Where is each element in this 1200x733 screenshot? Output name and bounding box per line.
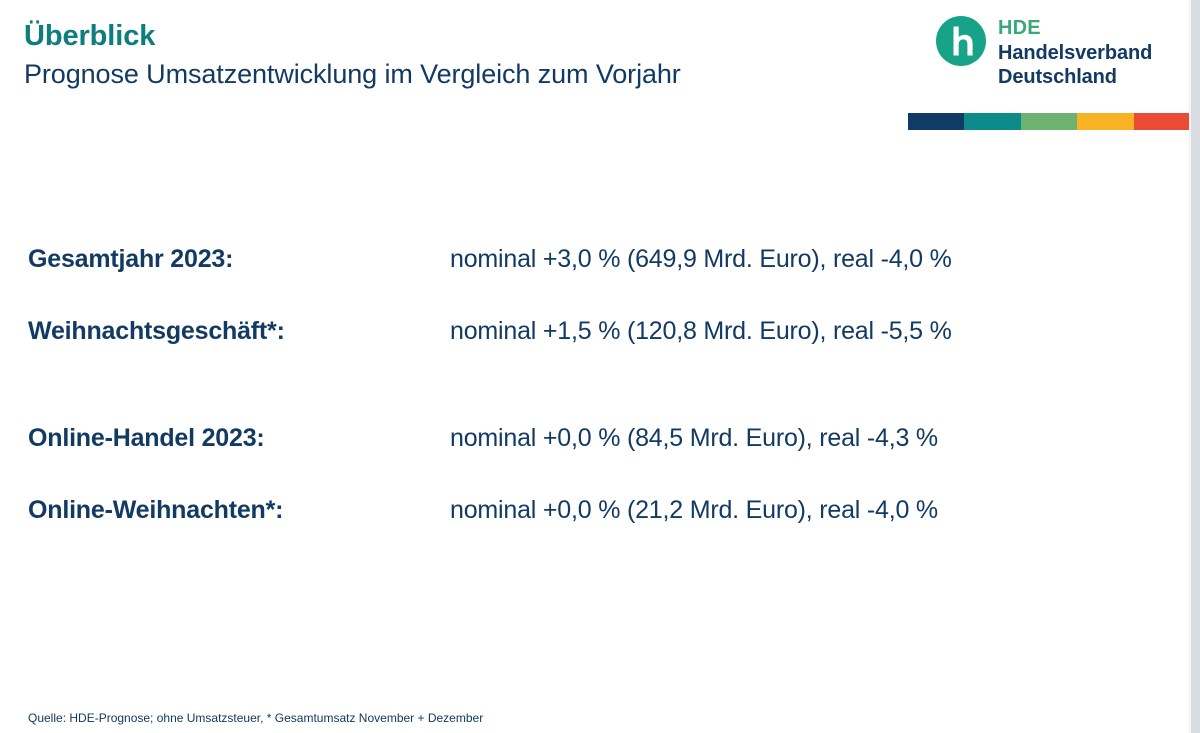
source-footnote: Quelle: HDE-Prognose; ohne Umsatzsteuer,…	[28, 711, 483, 725]
accent-segment-amber	[1077, 113, 1133, 130]
accent-segment-green	[1021, 113, 1077, 130]
accent-segment-navy	[908, 113, 964, 130]
row-value: nominal +0,0 % (21,2 Mrd. Euro), real -4…	[450, 496, 938, 525]
table-row: Online-Handel 2023: nominal +0,0 % (84,5…	[28, 424, 1148, 496]
row-label: Online-Handel 2023:	[28, 424, 450, 453]
hde-h-circle-icon	[936, 16, 986, 66]
brand-accent-bar	[908, 113, 1190, 130]
table-row: Weihnachtsgeschäft*: nominal +1,5 % (120…	[28, 317, 1148, 389]
row-label: Gesamtjahr 2023:	[28, 245, 450, 274]
row-value: nominal +1,5 % (120,8 Mrd. Euro), real -…	[450, 317, 952, 346]
page-subtitle: Prognose Umsatzentwicklung im Vergleich …	[24, 58, 884, 90]
table-row: Gesamtjahr 2023: nominal +3,0 % (649,9 M…	[28, 245, 1148, 317]
right-edge-rule	[1191, 0, 1200, 733]
page-title: Überblick	[24, 20, 884, 54]
accent-segment-red	[1134, 113, 1190, 130]
row-value: nominal +0,0 % (84,5 Mrd. Euro), real -4…	[450, 424, 938, 453]
row-label: Weihnachtsgeschäft*:	[28, 317, 450, 346]
logo-name-line3: Deutschland	[998, 65, 1152, 89]
header: Überblick Prognose Umsatzentwicklung im …	[24, 20, 884, 90]
hde-logo: HDE Handelsverband Deutschland	[936, 16, 1152, 89]
row-value: nominal +3,0 % (649,9 Mrd. Euro), real -…	[450, 245, 952, 274]
logo-name-line2: Handelsverband	[998, 41, 1152, 65]
table-row: Online-Weihnachten*: nominal +0,0 % (21,…	[28, 496, 1148, 568]
forecast-rows: Gesamtjahr 2023: nominal +3,0 % (649,9 M…	[28, 245, 1148, 568]
row-label: Online-Weihnachten*:	[28, 496, 450, 525]
slide-overview: Überblick Prognose Umsatzentwicklung im …	[0, 0, 1200, 733]
accent-segment-teal	[964, 113, 1020, 130]
logo-name-short: HDE	[998, 17, 1152, 41]
logo-wordmark: HDE Handelsverband Deutschland	[998, 16, 1152, 89]
